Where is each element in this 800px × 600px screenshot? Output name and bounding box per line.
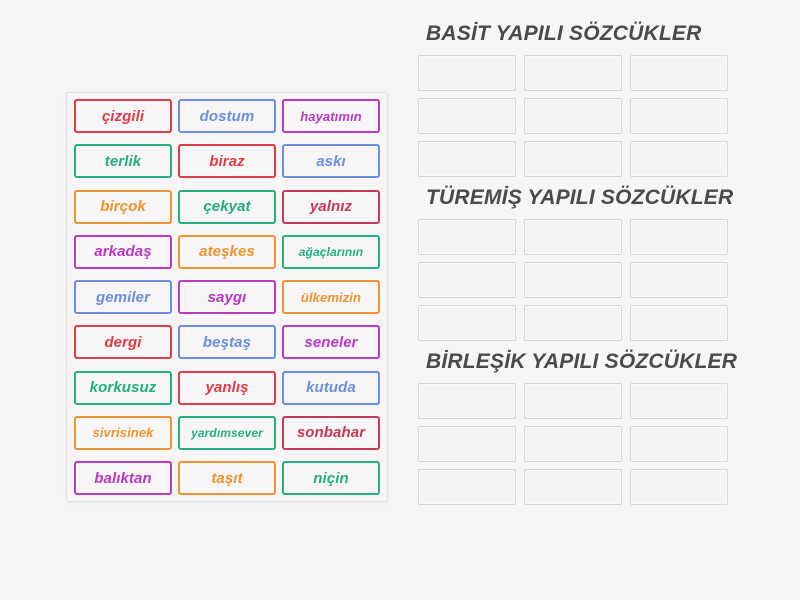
- drop-slot[interactable]: [524, 383, 622, 419]
- drop-slot[interactable]: [524, 98, 622, 134]
- word-tile[interactable]: beştaş: [178, 325, 276, 359]
- drop-slot[interactable]: [524, 219, 622, 255]
- drop-zone-grid: [418, 55, 748, 177]
- word-tile[interactable]: niçin: [282, 461, 380, 495]
- word-tile[interactable]: ateşkes: [178, 235, 276, 269]
- word-tile[interactable]: taşıt: [178, 461, 276, 495]
- drop-slot[interactable]: [630, 305, 728, 341]
- word-tile[interactable]: korkusuz: [74, 371, 172, 405]
- drop-zone-grid: [418, 383, 748, 505]
- drop-slot[interactable]: [630, 98, 728, 134]
- drop-slot[interactable]: [630, 55, 728, 91]
- drop-slot[interactable]: [524, 305, 622, 341]
- drop-slot[interactable]: [524, 55, 622, 91]
- category-group: BASİT YAPILI SÖZCÜKLER: [418, 22, 748, 177]
- drop-slot[interactable]: [630, 426, 728, 462]
- word-row: balıktantaşıtniçin: [74, 461, 380, 495]
- drop-zone-grid: [418, 219, 748, 341]
- word-bank-panel: çizgilidostumhayatımınterlikbirazaskıbir…: [66, 92, 388, 502]
- word-tile[interactable]: seneler: [282, 325, 380, 359]
- category-title: BİRLEŞİK YAPILI SÖZCÜKLER: [426, 350, 748, 374]
- drop-slot[interactable]: [418, 305, 516, 341]
- word-row: birçokçekyatyalnız: [74, 190, 380, 224]
- drop-slot[interactable]: [630, 262, 728, 298]
- word-row: arkadaşateşkesağaçlarının: [74, 235, 380, 269]
- word-row: dergibeştaşseneler: [74, 325, 380, 359]
- drop-slot[interactable]: [524, 262, 622, 298]
- drop-slot[interactable]: [418, 141, 516, 177]
- word-tile[interactable]: saygı: [178, 280, 276, 314]
- word-tile[interactable]: biraz: [178, 144, 276, 178]
- word-row: sivrisinekyardımseversonbahar: [74, 416, 380, 450]
- word-tile[interactable]: terlik: [74, 144, 172, 178]
- word-tile[interactable]: birçok: [74, 190, 172, 224]
- word-tile[interactable]: gemiler: [74, 280, 172, 314]
- word-tile[interactable]: dergi: [74, 325, 172, 359]
- drop-slot[interactable]: [418, 383, 516, 419]
- word-tile[interactable]: ağaçlarının: [282, 235, 380, 269]
- category-title: BASİT YAPILI SÖZCÜKLER: [426, 22, 748, 46]
- drop-slot[interactable]: [524, 469, 622, 505]
- word-tile[interactable]: ülkemizin: [282, 280, 380, 314]
- word-tile[interactable]: arkadaş: [74, 235, 172, 269]
- drop-slot[interactable]: [418, 219, 516, 255]
- word-tile[interactable]: çekyat: [178, 190, 276, 224]
- word-tile[interactable]: balıktan: [74, 461, 172, 495]
- word-tile[interactable]: yardımsever: [178, 416, 276, 450]
- drop-slot[interactable]: [630, 141, 728, 177]
- drop-slot[interactable]: [630, 383, 728, 419]
- drop-slot[interactable]: [418, 98, 516, 134]
- drop-slot[interactable]: [524, 141, 622, 177]
- drop-slot[interactable]: [630, 469, 728, 505]
- word-tile[interactable]: kutuda: [282, 371, 380, 405]
- word-tile[interactable]: askı: [282, 144, 380, 178]
- drop-slot[interactable]: [524, 426, 622, 462]
- word-tile[interactable]: hayatımın: [282, 99, 380, 133]
- word-tile[interactable]: sonbahar: [282, 416, 380, 450]
- categories-panel: BASİT YAPILI SÖZCÜKLERTÜREMİŞ YAPILI SÖZ…: [418, 22, 748, 514]
- drop-slot[interactable]: [418, 262, 516, 298]
- category-group: BİRLEŞİK YAPILI SÖZCÜKLER: [418, 350, 748, 505]
- word-row: çizgilidostumhayatımın: [74, 99, 380, 133]
- word-row: korkusuzyanlışkutuda: [74, 371, 380, 405]
- drop-slot[interactable]: [418, 55, 516, 91]
- word-tile[interactable]: dostum: [178, 99, 276, 133]
- drop-slot[interactable]: [630, 219, 728, 255]
- word-row: terlikbirazaskı: [74, 144, 380, 178]
- drop-slot[interactable]: [418, 469, 516, 505]
- word-tile[interactable]: yalnız: [282, 190, 380, 224]
- category-title: TÜREMİŞ YAPILI SÖZCÜKLER: [426, 186, 748, 210]
- drop-slot[interactable]: [418, 426, 516, 462]
- word-tile[interactable]: yanlış: [178, 371, 276, 405]
- word-tile[interactable]: sivrisinek: [74, 416, 172, 450]
- category-group: TÜREMİŞ YAPILI SÖZCÜKLER: [418, 186, 748, 341]
- word-row: gemilersaygıülkemizin: [74, 280, 380, 314]
- word-tile[interactable]: çizgili: [74, 99, 172, 133]
